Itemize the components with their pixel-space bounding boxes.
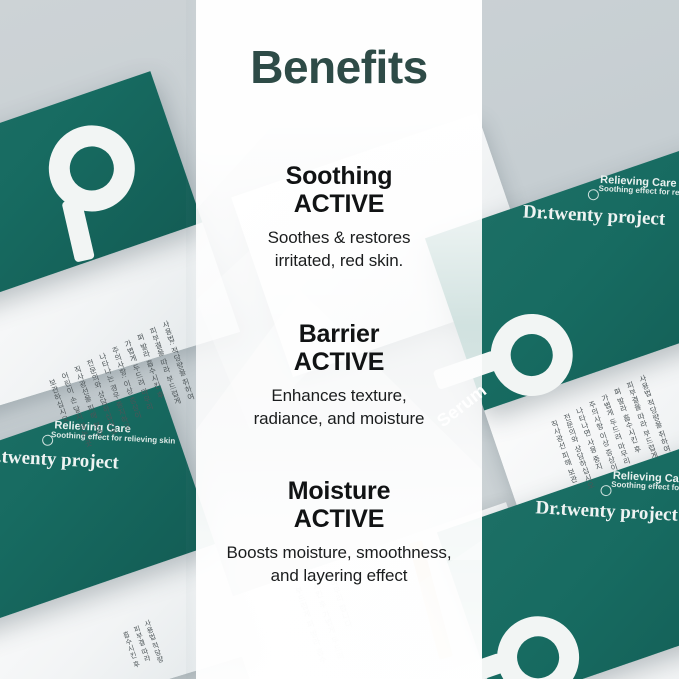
product-benefits-graphic: Serum Soothing effect for relieving skin… — [0, 0, 679, 679]
benefits-content: Benefits Soothing ACTIVE Soothes & resto… — [196, 0, 482, 679]
benefit-description-line-1: Soothes & restores — [196, 227, 482, 250]
benefit-description: Soothes & restores irritated, red skin. — [196, 227, 482, 272]
benefit-description: Enhances texture, radiance, and moisture — [196, 385, 482, 430]
benefit-heading-line-1: Moisture — [288, 477, 391, 505]
benefit-description: Boosts moisture, smoothness, and layerin… — [196, 542, 482, 587]
benefit-description-line-2: irritated, red skin. — [196, 250, 482, 273]
benefit-description-line-1: Boosts moisture, smoothness, — [196, 542, 482, 565]
benefit-description-line-1: Enhances texture, — [196, 385, 482, 408]
benefit-item-barrier: Barrier ACTIVE Enhances texture, radianc… — [196, 320, 482, 430]
benefit-item-moisture: Moisture ACTIVE Boosts moisture, smoothn… — [196, 477, 482, 587]
benefit-heading: Soothing ACTIVE — [196, 162, 482, 218]
benefit-description-line-2: and layering effect — [196, 565, 482, 588]
benefit-heading-line-2: ACTIVE — [196, 505, 482, 533]
benefit-heading: Barrier ACTIVE — [196, 320, 482, 376]
brand-line-2: project — [607, 206, 666, 230]
page-title: Benefits — [196, 40, 482, 94]
benefit-heading-line-1: Barrier — [299, 320, 380, 348]
brand-line-1: Dr.twenty — [522, 201, 603, 226]
benefit-heading-line-2: ACTIVE — [196, 348, 482, 376]
benefit-heading-line-2: ACTIVE — [196, 190, 482, 218]
benefit-item-soothing: Soothing ACTIVE Soothes & restores irrit… — [196, 162, 482, 272]
benefit-heading: Moisture ACTIVE — [196, 477, 482, 533]
benefit-description-line-2: radiance, and moisture — [196, 408, 482, 431]
benefit-heading-line-1: Soothing — [286, 162, 393, 190]
